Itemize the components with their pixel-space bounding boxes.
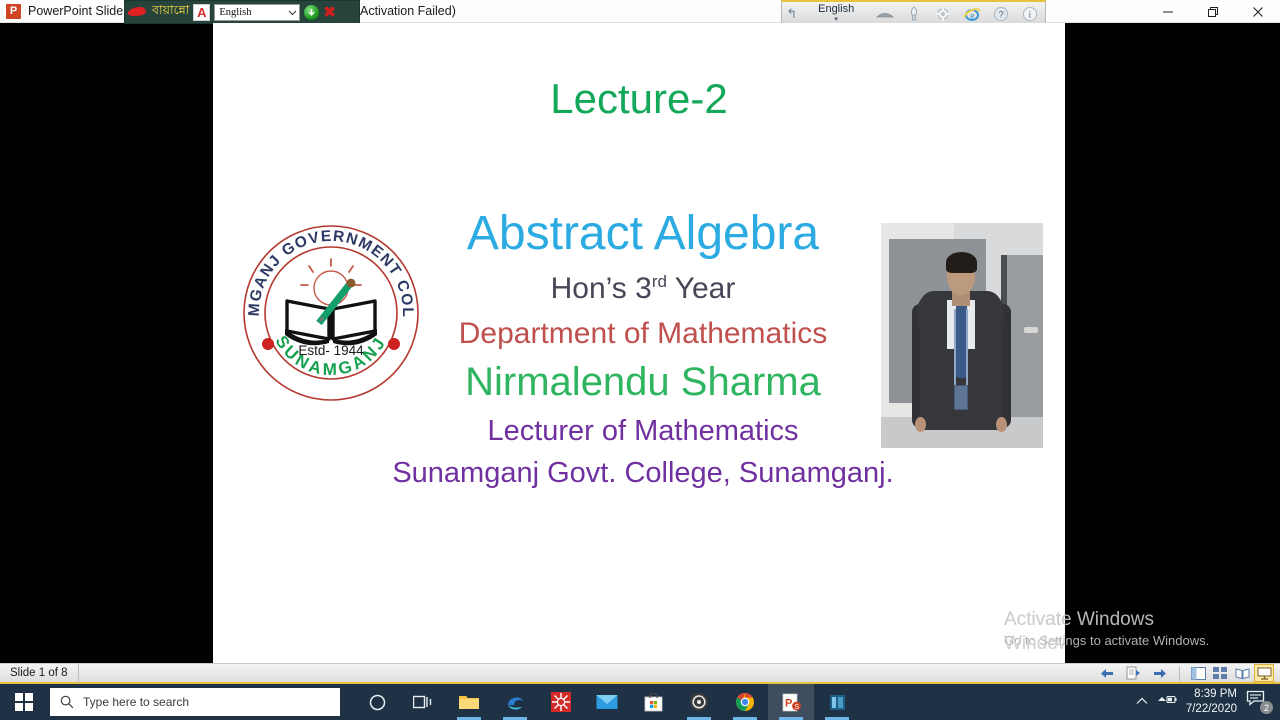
grip-icon[interactable]: ↰: [782, 2, 801, 26]
language-bar-language-label: English: [818, 4, 854, 15]
year-superscript: rd: [652, 272, 667, 291]
activate-windows-watermark-over-slide: Activate Windows Go to Settings to activ…: [1004, 608, 1065, 656]
internet-explorer-icon[interactable]: e: [958, 2, 987, 26]
show-hidden-icons-chevron[interactable]: [1136, 693, 1148, 711]
restore-icon[interactable]: [1190, 0, 1235, 23]
window-controls: [1145, 0, 1280, 23]
watermark-title-overlap: Activate Windows: [1004, 608, 1065, 656]
clock-time: 8:39 PM: [1194, 687, 1237, 702]
notes-icon[interactable]: [1121, 664, 1145, 683]
svg-text:Estd- 1944: Estd- 1944: [298, 343, 364, 358]
red-x-icon[interactable]: ✖: [323, 5, 336, 20]
department-line: Department of Mathematics: [363, 317, 923, 350]
notification-center-icon[interactable]: 2: [1246, 690, 1272, 714]
slide-canvas[interactable]: Lecture-2 SUNAMGANJ GOVERNMENT COLLEGE S…: [213, 23, 1065, 663]
clock-date: 7/22/2020: [1186, 702, 1237, 717]
previous-slide-arrow[interactable]: [1095, 664, 1119, 683]
normal-view[interactable]: [1188, 664, 1208, 682]
svg-text:e: e: [971, 10, 975, 20]
slide-lecture-heading: Lecture-2: [213, 75, 1065, 123]
ime-language-value: English: [219, 7, 251, 18]
windows-start-icon[interactable]: [0, 684, 48, 720]
bijoy-logo: [128, 5, 148, 19]
file-explorer-icon[interactable]: [446, 684, 492, 720]
statusbar: Slide 1 of 8: [0, 663, 1280, 684]
help-icon[interactable]: ?: [987, 2, 1016, 26]
teams-icon[interactable]: [814, 684, 860, 720]
avro-keyboard-icon[interactable]: A: [193, 4, 210, 21]
mail-icon[interactable]: [584, 684, 630, 720]
ime-language-select[interactable]: English: [214, 4, 300, 21]
red-app-icon[interactable]: [538, 684, 584, 720]
statusbar-divider: [1179, 666, 1180, 681]
system-tray: 8:39 PM 7/22/2020 2: [1136, 687, 1280, 716]
chevron-down-icon: ▾: [834, 16, 838, 23]
course-title: Abstract Algebra: [363, 208, 923, 260]
reading-view[interactable]: [1232, 664, 1252, 682]
taskbar: Type here to search: [0, 684, 1280, 720]
bijoy-ime-bar: বায়ান্নো A English ✖: [124, 0, 360, 24]
year-prefix: Hon’s 3: [551, 272, 652, 305]
svg-text:S: S: [794, 704, 799, 711]
statusbar-right-group: [1095, 664, 1280, 683]
svg-text:?: ?: [999, 9, 1004, 19]
bijoy-bangla-label: বায়ান্নো: [152, 2, 189, 22]
slide-sorter-view[interactable]: [1210, 664, 1230, 682]
green-download-icon[interactable]: [304, 5, 319, 20]
next-slide-arrow[interactable]: [1147, 664, 1171, 683]
minimize-icon[interactable]: [1145, 0, 1190, 23]
handwriting-icon[interactable]: [900, 2, 929, 26]
watermark-subtitle-overlap: Go to Settings to activate Windows.: [1004, 656, 1065, 657]
chevron-down-icon: [288, 8, 297, 17]
slide-show-view[interactable]: [1254, 664, 1274, 682]
powerpoint-icon[interactable]: PS: [768, 684, 814, 720]
taskbar-apps: PS: [354, 684, 860, 720]
close-icon[interactable]: [1235, 0, 1280, 23]
keyboard-icon[interactable]: [871, 2, 900, 26]
year-line: Hon’s 3rd Year: [363, 272, 923, 305]
info-icon[interactable]: i: [1016, 2, 1045, 26]
window-title-suffix: Activation Failed): [360, 4, 456, 18]
microsoft-store-icon[interactable]: [630, 684, 676, 720]
powerpoint-icon: P: [6, 4, 21, 19]
notification-badge: 2: [1260, 701, 1273, 714]
search-icon: [60, 695, 74, 709]
svg-text:P: P: [785, 697, 792, 709]
college-name: Sunamganj Govt. College, Sunamganj.: [363, 458, 923, 490]
network-battery-icon[interactable]: [1157, 693, 1177, 711]
search-placeholder: Type here to search: [83, 695, 189, 709]
slide-counter: Slide 1 of 8: [0, 664, 79, 683]
desktop-root: P PowerPoint Slide Sho Activation Failed…: [0, 0, 1280, 720]
avro-glyph: A: [197, 6, 206, 19]
language-bar-language[interactable]: English ▾: [801, 4, 871, 23]
obs-studio-icon[interactable]: [676, 684, 722, 720]
gear-icon[interactable]: [929, 2, 958, 26]
clock[interactable]: 8:39 PM 7/22/2020: [1186, 687, 1237, 716]
google-chrome-icon[interactable]: [722, 684, 768, 720]
slide-text-block: Abstract Algebra Hon’s 3rd Year Departme…: [363, 208, 923, 490]
cortana-icon[interactable]: [354, 684, 400, 720]
presenter-name: Nirmalendu Sharma: [363, 360, 923, 404]
presenter-role: Lecturer of Mathematics: [363, 416, 923, 448]
microsoft-edge-icon[interactable]: [492, 684, 538, 720]
task-view-icon[interactable]: [400, 684, 446, 720]
search-input[interactable]: Type here to search: [50, 688, 340, 716]
year-suffix: Year: [667, 272, 735, 305]
